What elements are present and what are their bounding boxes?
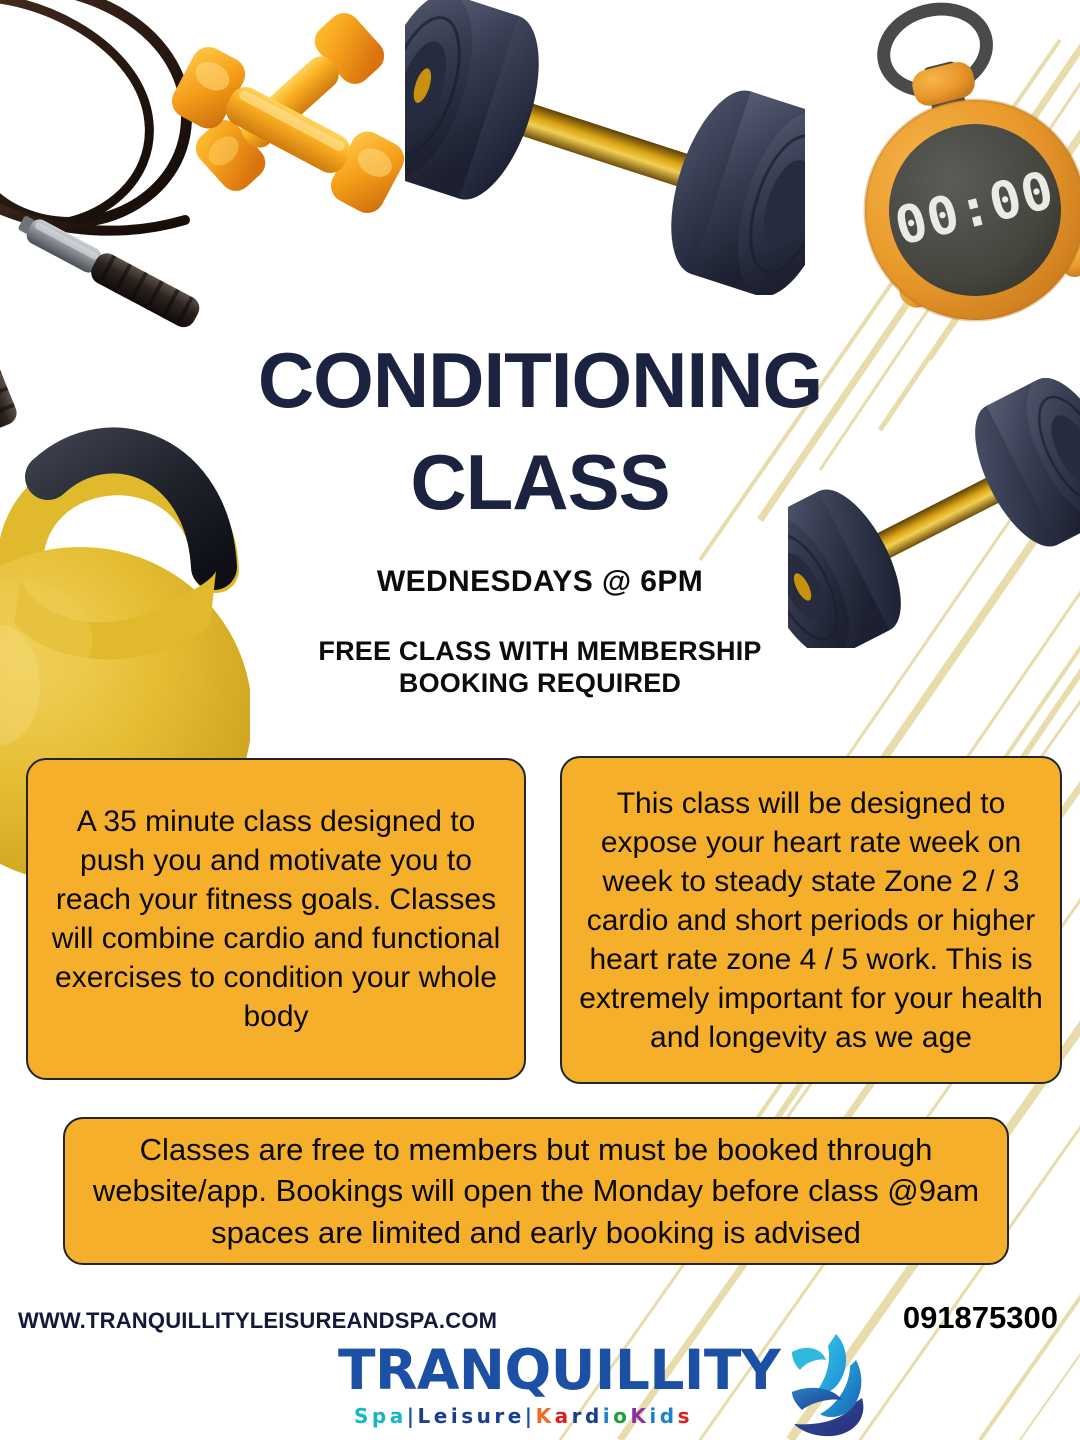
- phone-number[interactable]: 091875300: [903, 1300, 1058, 1336]
- tagline-kardiokids-letter-8: i: [649, 1404, 659, 1428]
- brand-tagline: Spa|Leisure|KardioKids: [354, 1404, 774, 1428]
- tagline-kardiokids-letter-3: r: [572, 1404, 585, 1428]
- tagline-spa: Spa: [354, 1404, 407, 1428]
- tagline-kardiokids-letter-10: s: [678, 1404, 693, 1428]
- title-line-1: CONDITIONING: [258, 336, 822, 424]
- tagline-separator-1: |: [407, 1404, 418, 1428]
- membership-note-line-2: BOOKING REQUIRED: [0, 668, 1080, 700]
- schedule-text: WEDNESDAYS @ 6PM: [0, 565, 1080, 599]
- stopwatch-prop: 00:00: [855, 0, 1080, 350]
- tagline-kardiokids-letter-2: a: [555, 1404, 572, 1428]
- page-title: CONDITIONING CLASS: [0, 330, 1080, 533]
- info-box-booking-policy: Classes are free to members but must be …: [63, 1117, 1009, 1265]
- website-url[interactable]: WWW.TRANQUILLITYLEISUREANDSPA.COM: [18, 1308, 497, 1334]
- tagline-kardiokids-letter-9: d: [660, 1404, 678, 1428]
- poster-root: 00:00: [0, 0, 1080, 1440]
- orange-dumbbell-pair-prop: [140, 0, 450, 257]
- brand-logo: TRANQUILLITY Spa|Leisure|KardioKids: [338, 1338, 768, 1438]
- tagline-leisure: Leisure: [418, 1404, 525, 1428]
- membership-note: FREE CLASS WITH MEMBERSHIP BOOKING REQUI…: [0, 636, 1080, 700]
- tagline-kardiokids-letter-7: K: [630, 1404, 649, 1428]
- info-box-bottom-text: Classes are free to members but must be …: [87, 1129, 985, 1253]
- info-box-right-text: This class will be designed to expose yo…: [574, 784, 1048, 1057]
- brand-water-splash-icon: [762, 1330, 882, 1440]
- brand-wordmark: TRANQUILLITY: [338, 1338, 768, 1402]
- info-box-left-text: A 35 minute class designed to push you a…: [42, 802, 510, 1036]
- tagline-kardiokids-letter-1: K: [536, 1404, 555, 1428]
- tagline-kardiokids-letter-5: i: [603, 1404, 613, 1428]
- membership-note-line-1: FREE CLASS WITH MEMBERSHIP: [0, 636, 1080, 668]
- tagline-kardiokids-letter-4: d: [585, 1404, 603, 1428]
- info-box-class-description: A 35 minute class designed to push you a…: [26, 758, 526, 1080]
- tagline-kardiokids-letter-6: o: [613, 1404, 630, 1428]
- dumbbell-dark-top-prop: [405, 0, 805, 295]
- tagline-separator-2: |: [525, 1404, 536, 1428]
- title-line-2: CLASS: [0, 432, 1080, 533]
- info-box-heart-rate-zones: This class will be designed to expose yo…: [560, 756, 1062, 1084]
